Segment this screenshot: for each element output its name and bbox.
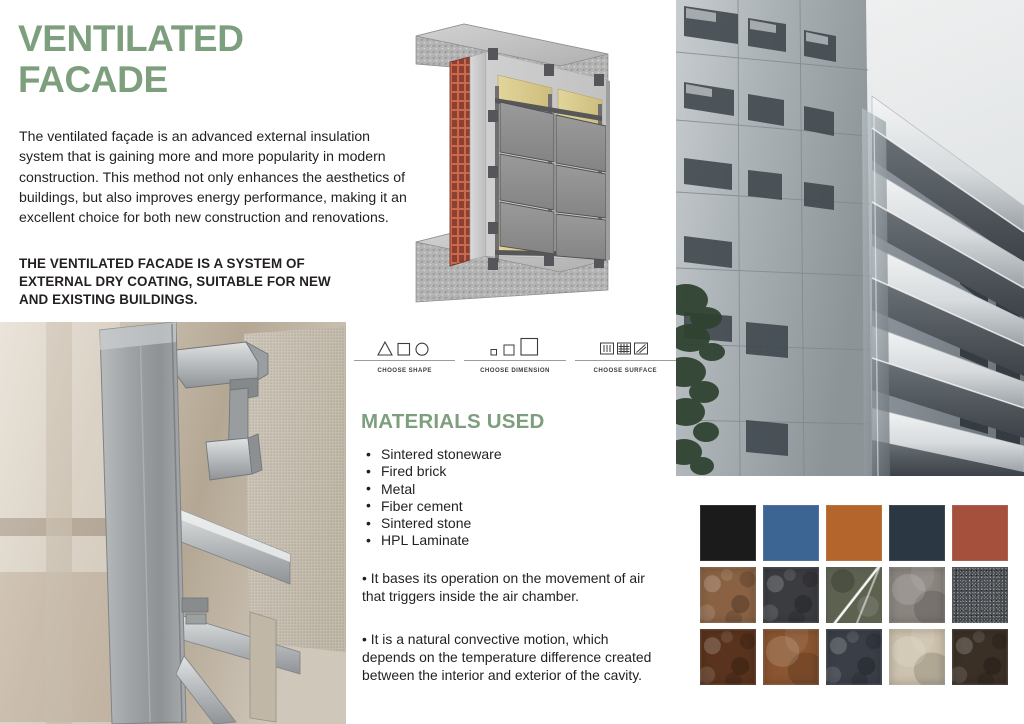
substructure-bracket-photo-svg	[0, 322, 346, 724]
substructure-bracket-photo	[0, 322, 346, 724]
page-title-line-2: FACADE	[18, 59, 168, 100]
list-item: Sintered stoneware	[363, 446, 663, 463]
list-item: HPL Laminate	[363, 532, 663, 549]
list-item: Fired brick	[363, 463, 663, 480]
option-divider-rule	[575, 360, 676, 361]
option-label-dimension: CHOOSE DIMENSION	[480, 367, 550, 374]
swatch-beige-cream[interactable]	[889, 629, 945, 685]
note-airflow: • It bases its operation on the movement…	[362, 570, 654, 606]
materials-list: Sintered stoneware Fired brick Metal Fib…	[363, 446, 663, 550]
list-item: Fiber cement	[363, 498, 663, 515]
list-item: Sintered stone	[363, 515, 663, 532]
surface-three-tiles-icon	[597, 333, 653, 357]
swatch-dark-slate[interactable]	[763, 567, 819, 623]
swatch-granite-black[interactable]	[952, 567, 1008, 623]
subheading: THE VENTILATED FACADE IS A SYSTEM OF EXT…	[19, 255, 349, 310]
swatch-brick-red[interactable]	[952, 505, 1008, 561]
option-divider-rule	[464, 360, 565, 361]
option-label-shape: CHOOSE SHAPE	[377, 367, 432, 374]
finish-swatch-grid	[700, 505, 1008, 685]
swatch-dark-brown[interactable]	[700, 629, 756, 685]
swatch-dark-navy[interactable]	[889, 505, 945, 561]
swatch-olive-marble[interactable]	[826, 567, 882, 623]
list-item: Metal	[363, 481, 663, 498]
swatch-rust-tan[interactable]	[700, 567, 756, 623]
option-choose-shape[interactable]: CHOOSE SHAPE	[354, 333, 455, 379]
page-title: VENTILATED FACADE	[18, 18, 348, 101]
brochure-page: VENTILATED FACADE The ventilated façade …	[0, 0, 1024, 724]
wall-section-diagram-svg	[402, 2, 680, 314]
page-title-line-1: VENTILATED	[18, 18, 244, 59]
dimension-three-squares-icon	[487, 333, 543, 357]
note-convection: • It is a natural convective motion, whi…	[362, 631, 654, 685]
swatch-black[interactable]	[700, 505, 756, 561]
option-divider-rule	[354, 360, 455, 361]
swatch-grey-concrete[interactable]	[889, 567, 945, 623]
intro-paragraph: The ventilated façade is an advanced ext…	[19, 126, 411, 227]
swatch-espresso[interactable]	[952, 629, 1008, 685]
option-label-surface: CHOOSE SURFACE	[594, 367, 658, 374]
swatch-charcoal-blue[interactable]	[826, 629, 882, 685]
shape-triangle-square-circle-icon	[377, 333, 433, 357]
option-choose-surface[interactable]: CHOOSE SURFACE	[575, 333, 676, 379]
building-facade-photo	[676, 0, 1024, 476]
wall-section-diagram	[402, 2, 680, 314]
selection-options-strip: CHOOSE SHAPE CHOOSE DIMENSION	[354, 333, 676, 379]
swatch-steel-blue[interactable]	[763, 505, 819, 561]
swatch-terracotta-brown[interactable]	[763, 629, 819, 685]
materials-section-title: MATERIALS USED	[361, 410, 545, 434]
swatch-burnt-orange[interactable]	[826, 505, 882, 561]
option-choose-dimension[interactable]: CHOOSE DIMENSION	[464, 333, 565, 379]
building-facade-photo-svg	[676, 0, 1024, 476]
